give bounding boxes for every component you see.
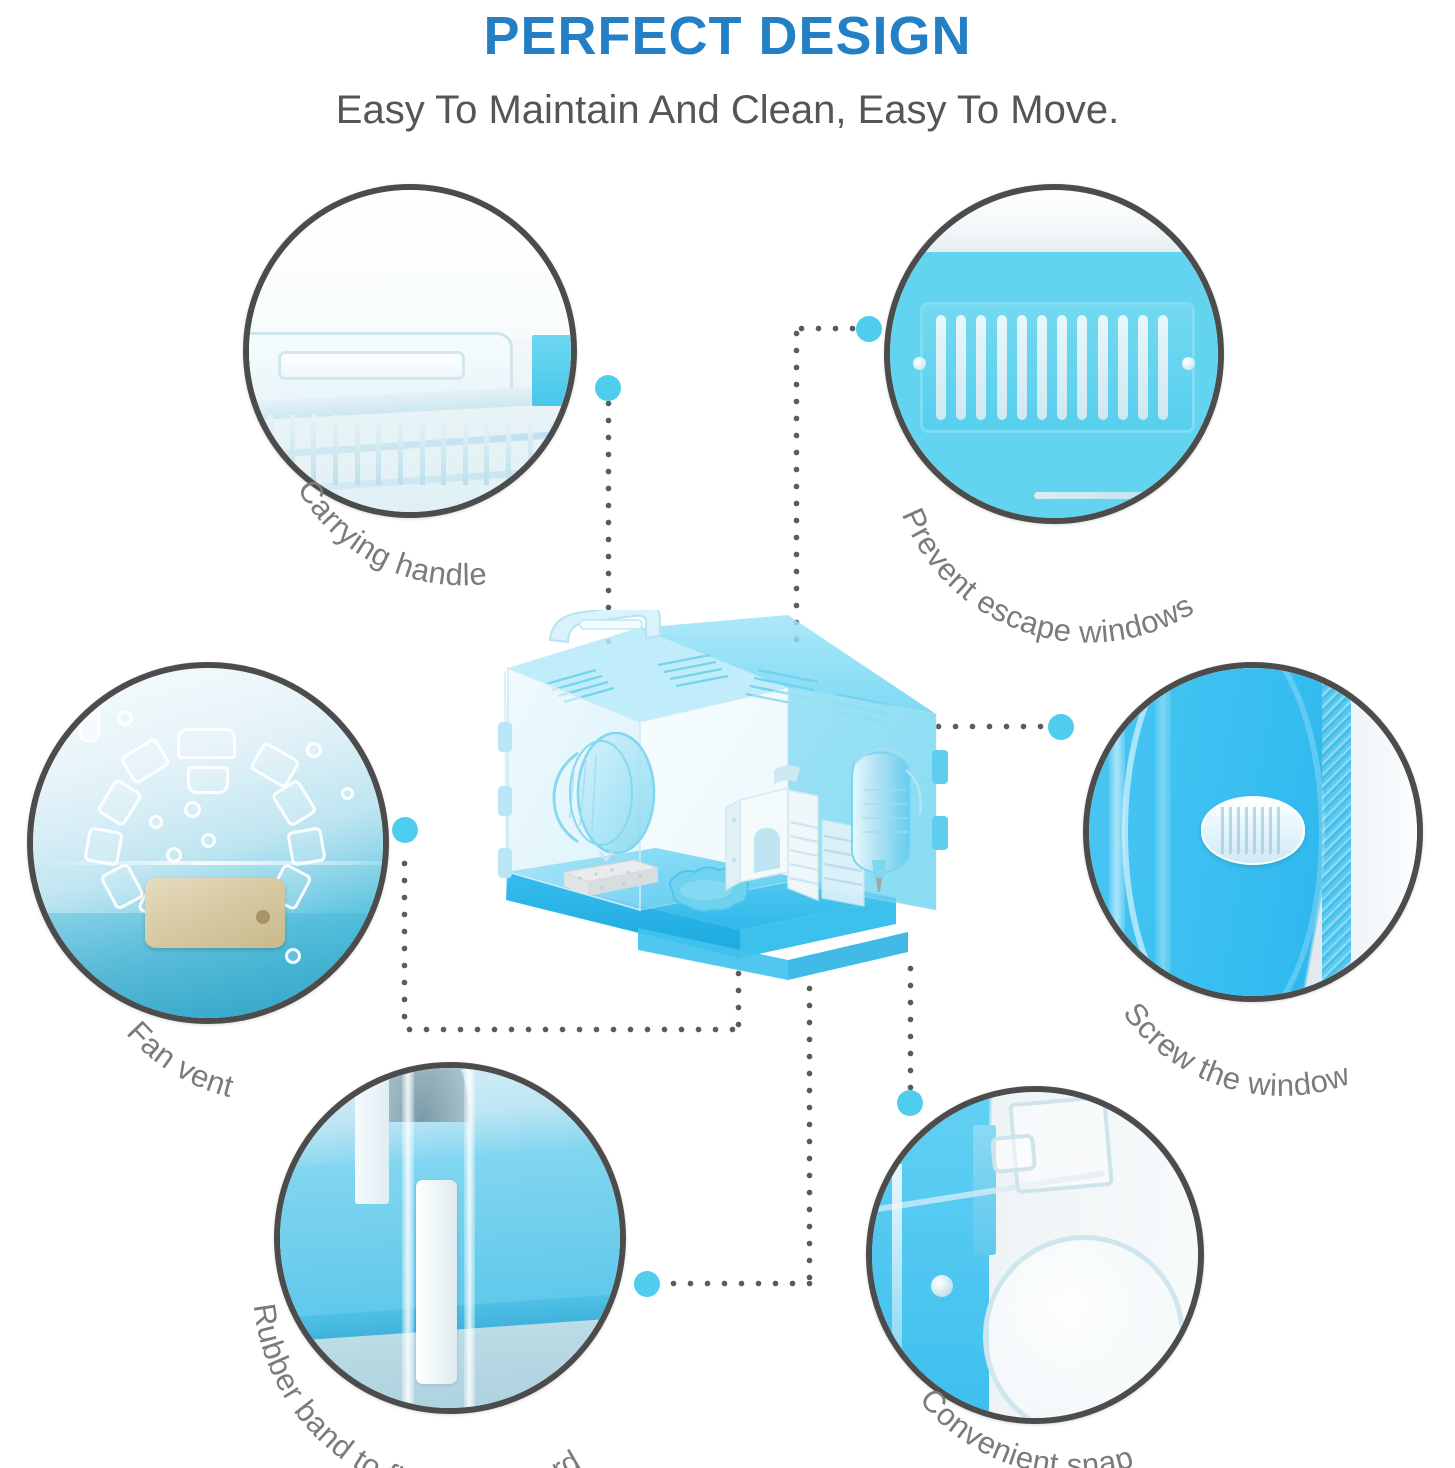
- infographic-canvas: PERFECT DESIGN Easy To Maintain And Clea…: [0, 0, 1455, 1468]
- callout-image-convenient-snap[interactable]: [866, 1086, 1204, 1424]
- connector-dot-rubber-band: [634, 1271, 660, 1297]
- callout-image-carrying-handle[interactable]: [243, 184, 577, 518]
- rubber-band-photo: [280, 1068, 620, 1408]
- label-text-fan-vent: Fan vent: [120, 1014, 237, 1104]
- callout-image-prevent-escape-windows[interactable]: [884, 184, 1224, 524]
- carrying-handle-photo: [249, 190, 571, 512]
- connector-dot-carrying-handle: [595, 375, 621, 401]
- connector-dot-fan-vent: [392, 817, 418, 843]
- connector-fan-vent-vertical: [401, 855, 408, 1030]
- connector-dot-screw-window: [1048, 714, 1074, 740]
- connector-carrying-handle-vertical: [605, 395, 612, 645]
- label-text-screw-the-window: Screw the window: [1117, 996, 1354, 1103]
- page-subtitle: Easy To Maintain And Clean, Easy To Move…: [0, 66, 1455, 136]
- prevent-escape-windows-photo: [890, 190, 1218, 518]
- svg-text:Screw the window: Screw the window: [1117, 996, 1354, 1103]
- connector-prevent-escape-vertical: [793, 325, 800, 645]
- callout-image-rubber-band[interactable]: [274, 1062, 626, 1414]
- product-image-hamster-cage: [488, 610, 958, 1000]
- header: PERFECT DESIGN Easy To Maintain And Clea…: [0, 0, 1455, 136]
- connector-dot-prevent-escape: [856, 316, 882, 342]
- callout-image-fan-vent[interactable]: [27, 662, 389, 1024]
- connector-rubber-band-horizontal: [648, 1280, 813, 1287]
- connector-rubber-band-vertical: [806, 980, 813, 1280]
- fan-vent-photo: [33, 668, 383, 1018]
- connector-fan-vent-horizontal: [401, 1026, 741, 1033]
- page-title: PERFECT DESIGN: [0, 0, 1455, 66]
- screw-the-window-photo: [1089, 668, 1417, 996]
- callout-image-screw-the-window[interactable]: [1083, 662, 1423, 1002]
- convenient-snap-photo: [872, 1092, 1198, 1418]
- svg-text:Fan vent: Fan vent: [120, 1014, 237, 1104]
